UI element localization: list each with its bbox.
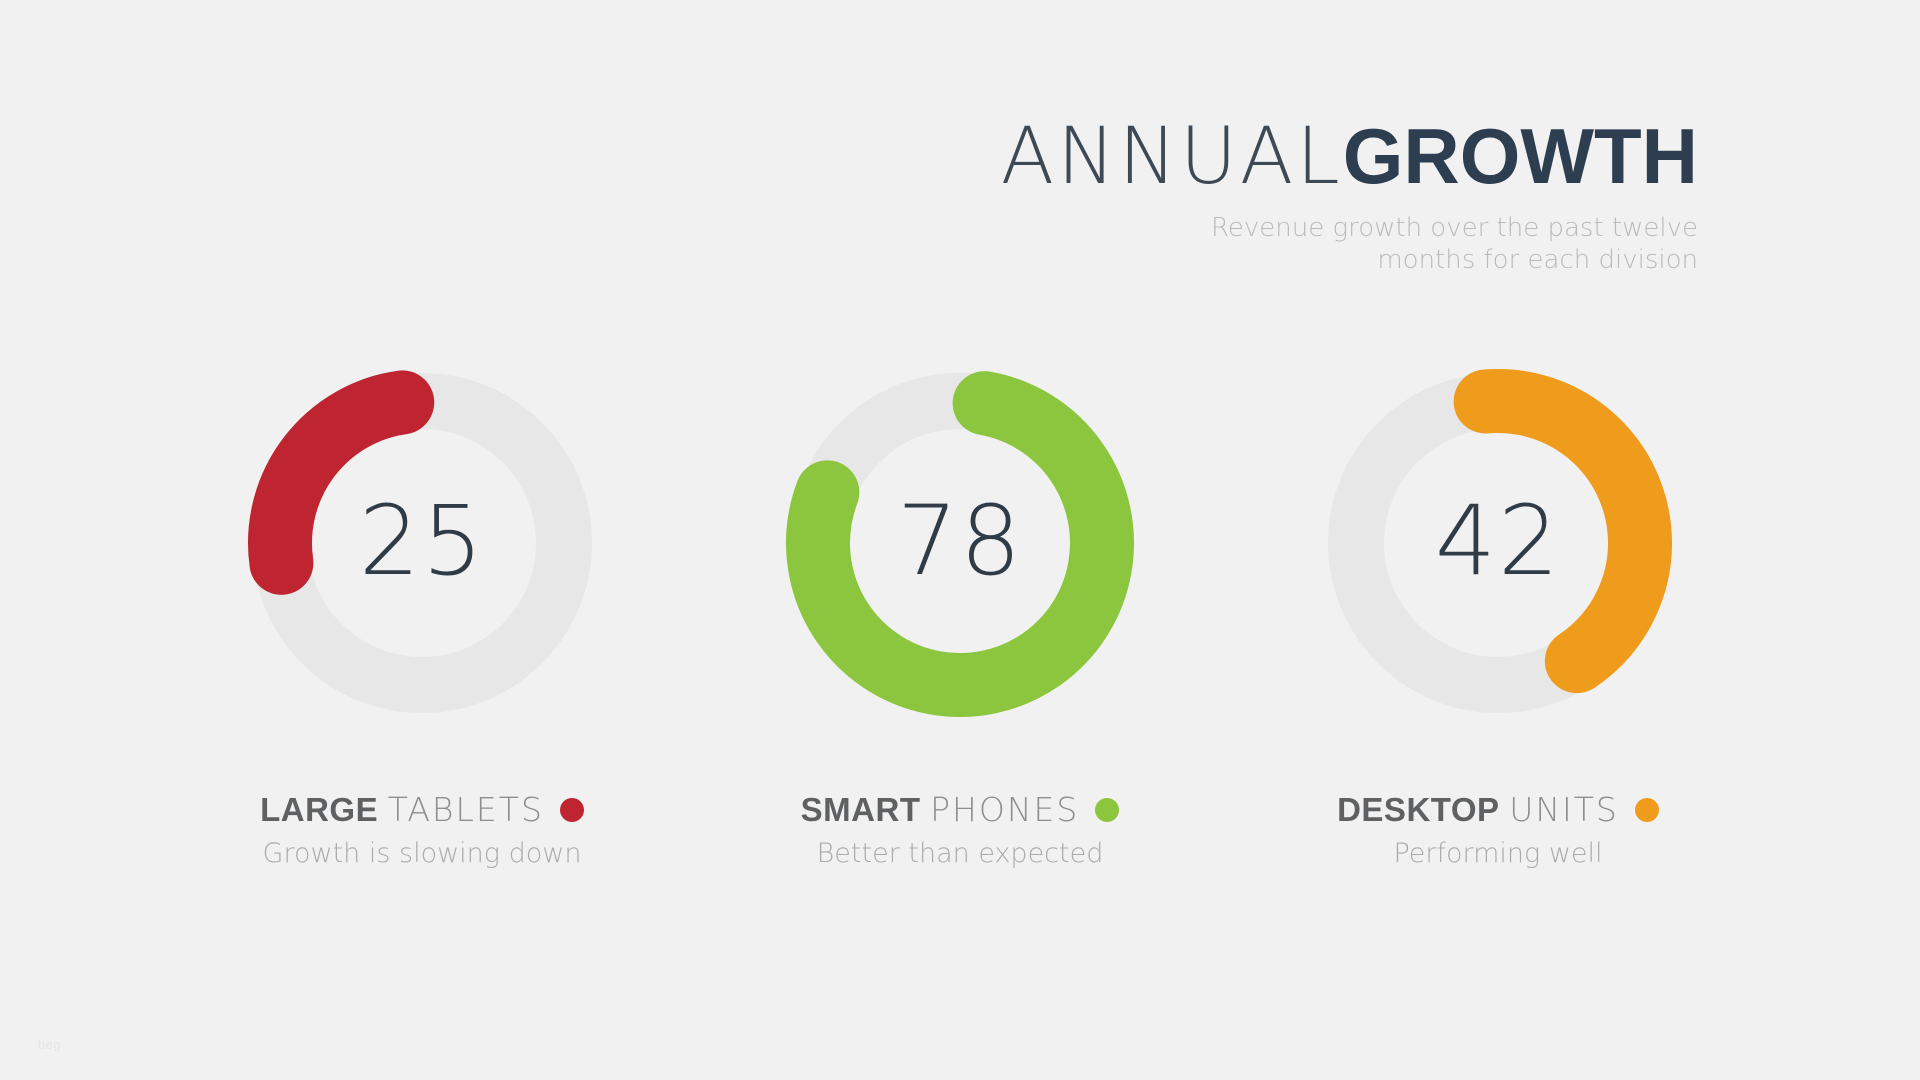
donut-smart-phones[interactable]: 78 <box>765 348 1155 738</box>
page-subtitle: Revenue growth over the past twelve mont… <box>1198 213 1698 276</box>
watermark: tieg <box>38 1037 61 1052</box>
donut-chart-row: 25 LARGE TABLETS Growth is slowing down <box>0 348 1920 869</box>
legend-caption-smart-phones: Better than expected <box>801 838 1120 869</box>
chart-column-smart-phones: 78 SMART PHONES Better than expected <box>750 348 1170 869</box>
legend-caption-large-tablets: Growth is slowing down <box>260 838 584 869</box>
legend-thin-large-tablets: TABLETS <box>388 790 544 829</box>
legend-thin-smart-phones: PHONES <box>930 790 1079 829</box>
slide-root: ANNUALGROWTH Revenue growth over the pas… <box>0 0 1920 1080</box>
legend-title-line-desktop-units: DESKTOP UNITS <box>1337 790 1659 829</box>
donut-value-desktop-units: 42 <box>1303 348 1693 738</box>
legend-color-dot-desktop-units <box>1635 798 1659 822</box>
donut-value-smart-phones: 78 <box>765 348 1155 738</box>
legend-caption-desktop-units: Performing well <box>1337 838 1659 869</box>
legend-smart-phones: SMART PHONES Better than expected <box>801 790 1120 869</box>
chart-column-large-tablets: 25 LARGE TABLETS Growth is slowing down <box>212 348 632 869</box>
donut-large-tablets[interactable]: 25 <box>227 348 617 738</box>
legend-title-line-large-tablets: LARGE TABLETS <box>260 790 584 829</box>
legend-color-dot-smart-phones <box>1095 798 1119 822</box>
legend-strong-smart-phones: SMART <box>801 791 921 828</box>
donut-value-large-tablets: 25 <box>227 348 617 738</box>
legend-large-tablets: LARGE TABLETS Growth is slowing down <box>260 790 584 869</box>
header: ANNUALGROWTH Revenue growth over the pas… <box>1001 118 1698 277</box>
title-bold-part: GROWTH <box>1343 112 1698 200</box>
legend-color-dot-large-tablets <box>560 798 584 822</box>
legend-strong-large-tablets: LARGE <box>260 791 378 828</box>
donut-desktop-units[interactable]: 42 <box>1303 348 1693 738</box>
legend-strong-desktop-units: DESKTOP <box>1337 791 1499 828</box>
chart-column-desktop-units: 42 DESKTOP UNITS Performing well <box>1288 348 1708 869</box>
page-title: ANNUALGROWTH <box>1001 118 1698 195</box>
legend-thin-desktop-units: UNITS <box>1509 790 1619 829</box>
title-light-part: ANNUAL <box>1001 112 1343 202</box>
legend-title-line-smart-phones: SMART PHONES <box>801 790 1120 829</box>
legend-desktop-units: DESKTOP UNITS Performing well <box>1337 790 1659 869</box>
